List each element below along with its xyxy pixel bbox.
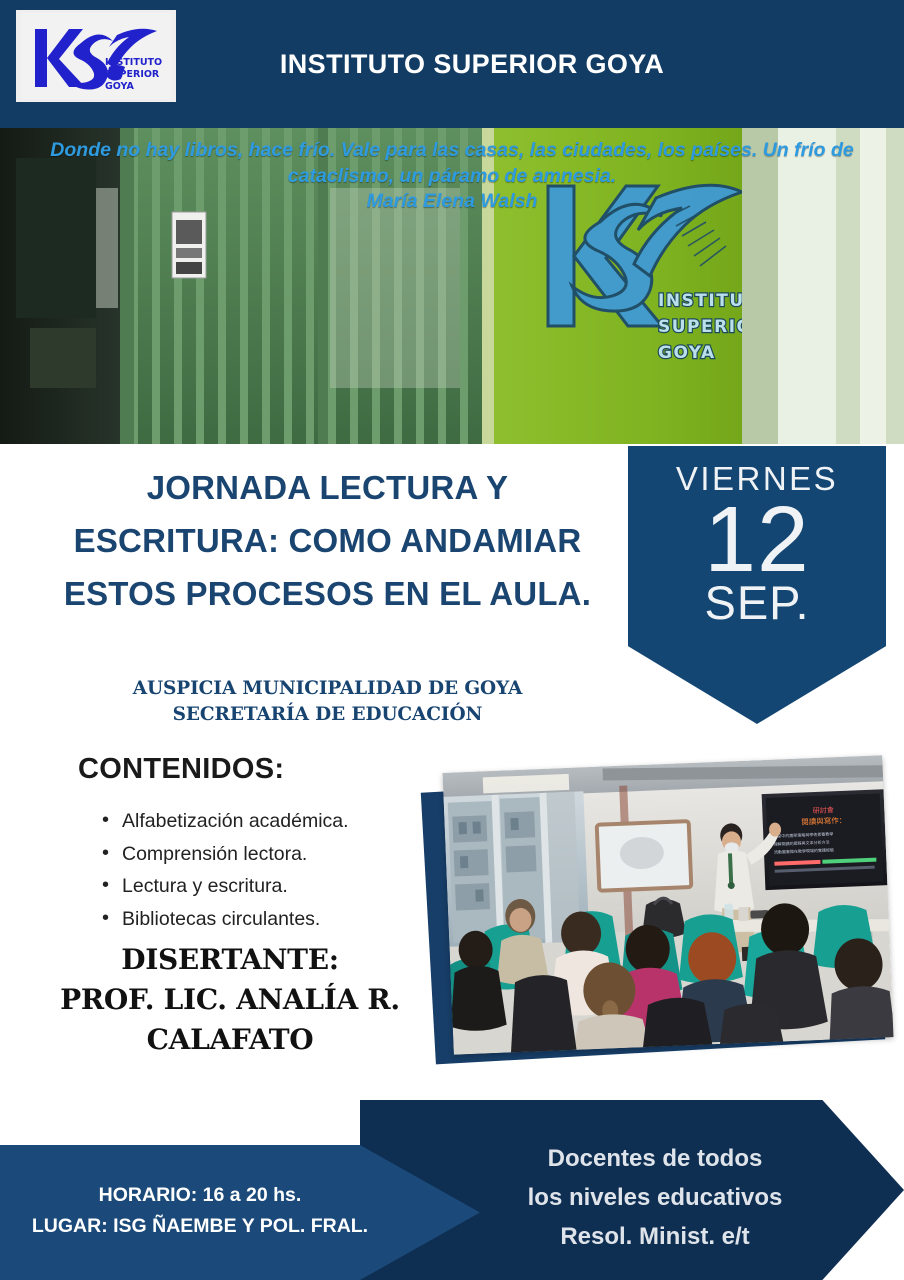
speaker-name-line-1: PROF. LIC. ANALÍA R.	[20, 980, 440, 1020]
date-month: SEP.	[704, 579, 809, 626]
date-day-number: 12	[704, 497, 809, 583]
svg-text:GOYA: GOYA	[658, 343, 716, 363]
contents-list: Alfabetización académica. Comprensión le…	[100, 805, 430, 935]
speaker-block: DISERTANTE: PROF. LIC. ANALÍA R. CALAFAT…	[20, 940, 440, 1059]
list-item: Lectura y escritura.	[100, 870, 430, 903]
speaker-label: DISERTANTE:	[20, 940, 440, 980]
quote-author: María Elena Walsh	[367, 190, 538, 212]
footer-logistics: HORARIO: 16 a 20 hs. LUGAR: ISG ÑAEMBE Y…	[0, 1180, 400, 1242]
footer-audience-line-2: los niveles educativos	[470, 1179, 840, 1218]
page-header: INSTITUTO SUPERIOR GOYA INSTITUTO SUPERI…	[0, 0, 904, 128]
sponsor-line-2: SECRETARÍA DE EDUCACIÓN	[45, 702, 610, 728]
date-badge-content: VIERNES 12 SEP.	[628, 446, 886, 646]
speaker-name-line-2: CALAFATO	[20, 1020, 440, 1060]
svg-text:研討會: 研討會	[813, 805, 834, 815]
header-institute-title: INSTITUTO SUPERIOR GOYA	[0, 0, 904, 128]
svg-text:閱讀與寫作：: 閱讀與寫作：	[801, 815, 846, 827]
quote-block: Donde no hay libros, hace frío. Vale par…	[0, 138, 904, 215]
classroom-photo: 研討會 閱讀與寫作： 課堂中的鷹架策略與學術素養教學 理解閱讀的歷程與文本分析方…	[420, 760, 892, 1070]
sponsor-line-1: AUSPICIA MUNICIPALIDAD DE GOYA	[45, 676, 610, 702]
contents-heading: CONTENIDOS:	[78, 753, 284, 786]
classroom-photo-illustration: 研討會 閱讀與寫作： 課堂中的鷹架策略與學術素養教學 理解閱讀的歷程與文本分析方…	[443, 755, 894, 1054]
photo-image: 研討會 閱讀與寫作： 課堂中的鷹架策略與學術素養教學 理解閱讀的歷程與文本分析方…	[443, 755, 894, 1054]
footer-audience-line-3: Resol. Minist. e/t	[470, 1218, 840, 1257]
list-item: Bibliotecas circulantes.	[100, 903, 430, 936]
date-badge: VIERNES 12 SEP.	[628, 446, 886, 724]
event-sponsor: AUSPICIA MUNICIPALIDAD DE GOYA SECRETARÍ…	[45, 676, 610, 729]
footer-audience: Docentes de todos los niveles educativos…	[470, 1140, 840, 1257]
list-item: Comprensión lectora.	[100, 838, 430, 871]
footer-schedule: HORARIO: 16 a 20 hs.	[0, 1180, 400, 1211]
list-item: Alfabetización académica.	[100, 805, 430, 838]
building-photo-banner: INSTITUTO SUPERIOR GOYA Donde no hay lib…	[0, 128, 904, 444]
quote-text: Donde no hay libros, hace frío. Vale par…	[50, 139, 853, 187]
event-title: JORNADA LECTURA Y ESCRITURA: COMO ANDAMI…	[45, 462, 610, 620]
footer-audience-line-1: Docentes de todos	[470, 1140, 840, 1179]
footer-place: LUGAR: ISG ÑAEMBE Y POL. FRAL.	[0, 1211, 400, 1242]
